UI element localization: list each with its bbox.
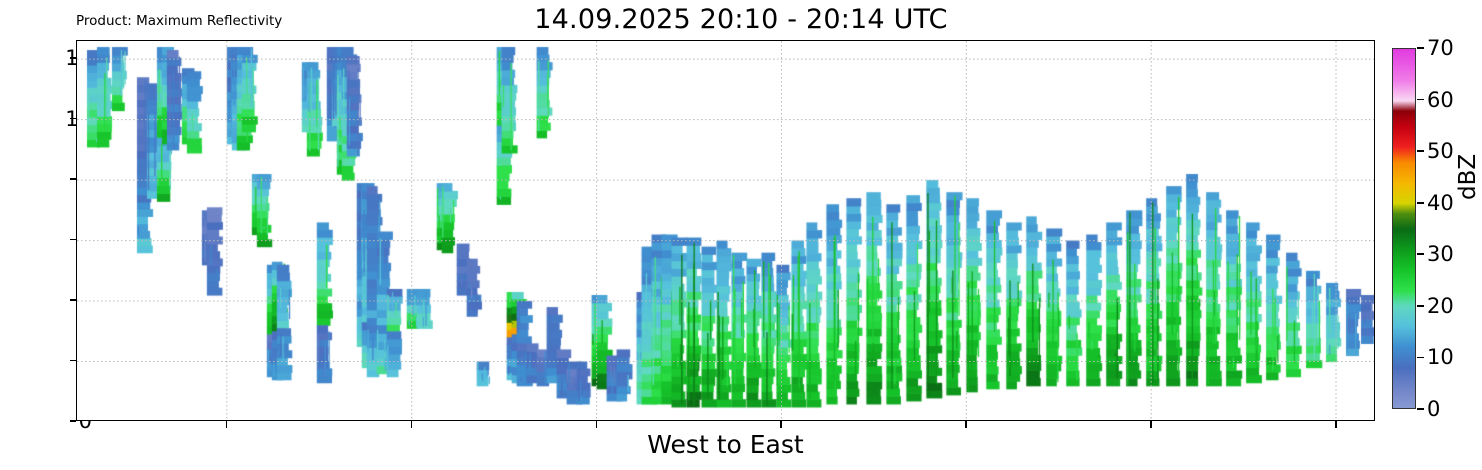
reflectivity-heatmap — [77, 41, 1375, 421]
colorbar-tick-mark — [1417, 47, 1424, 49]
colorbar-tick-label: 60 — [1427, 88, 1454, 112]
radar-cross-section-figure: 14.09.2025 20:10 - 20:14 UTC Product: Ma… — [0, 0, 1482, 470]
colorbar-tick-mark — [1417, 408, 1424, 410]
colorbar-tick-mark — [1417, 150, 1424, 152]
x-tick-mark — [411, 421, 413, 428]
colorbar-tick-label: 10 — [1427, 345, 1454, 369]
colorbar-tick-label: 30 — [1427, 242, 1454, 266]
x-tick-mark — [1335, 421, 1337, 428]
colorbar-tick-mark — [1417, 202, 1424, 204]
colorbar-tick-label: 20 — [1427, 294, 1454, 318]
plot-area — [76, 40, 1375, 421]
colorbar-tick-label: 50 — [1427, 139, 1454, 163]
x-tick-mark — [1150, 421, 1152, 428]
colorbar-tick-mark — [1417, 99, 1424, 101]
colorbar-tick-mark — [1417, 253, 1424, 255]
x-tick-mark — [780, 421, 782, 428]
colorbar-label: dBZ — [1455, 154, 1481, 200]
colorbar-tick-label: 40 — [1427, 191, 1454, 215]
x-tick-mark — [226, 421, 228, 428]
x-axis-label: West to East — [76, 430, 1375, 459]
x-tick-mark — [965, 421, 967, 428]
colorbar-gradient — [1393, 49, 1415, 408]
product-annotation: Product: Maximum Reflectivity — [76, 13, 282, 29]
colorbar-tick-mark — [1417, 305, 1424, 307]
colorbar-tick-mark — [1417, 357, 1424, 359]
x-tick-mark — [596, 421, 598, 428]
colorbar-tick-label: 70 — [1427, 36, 1454, 60]
colorbar-tick-label: 0 — [1427, 397, 1440, 421]
colorbar — [1392, 48, 1416, 409]
